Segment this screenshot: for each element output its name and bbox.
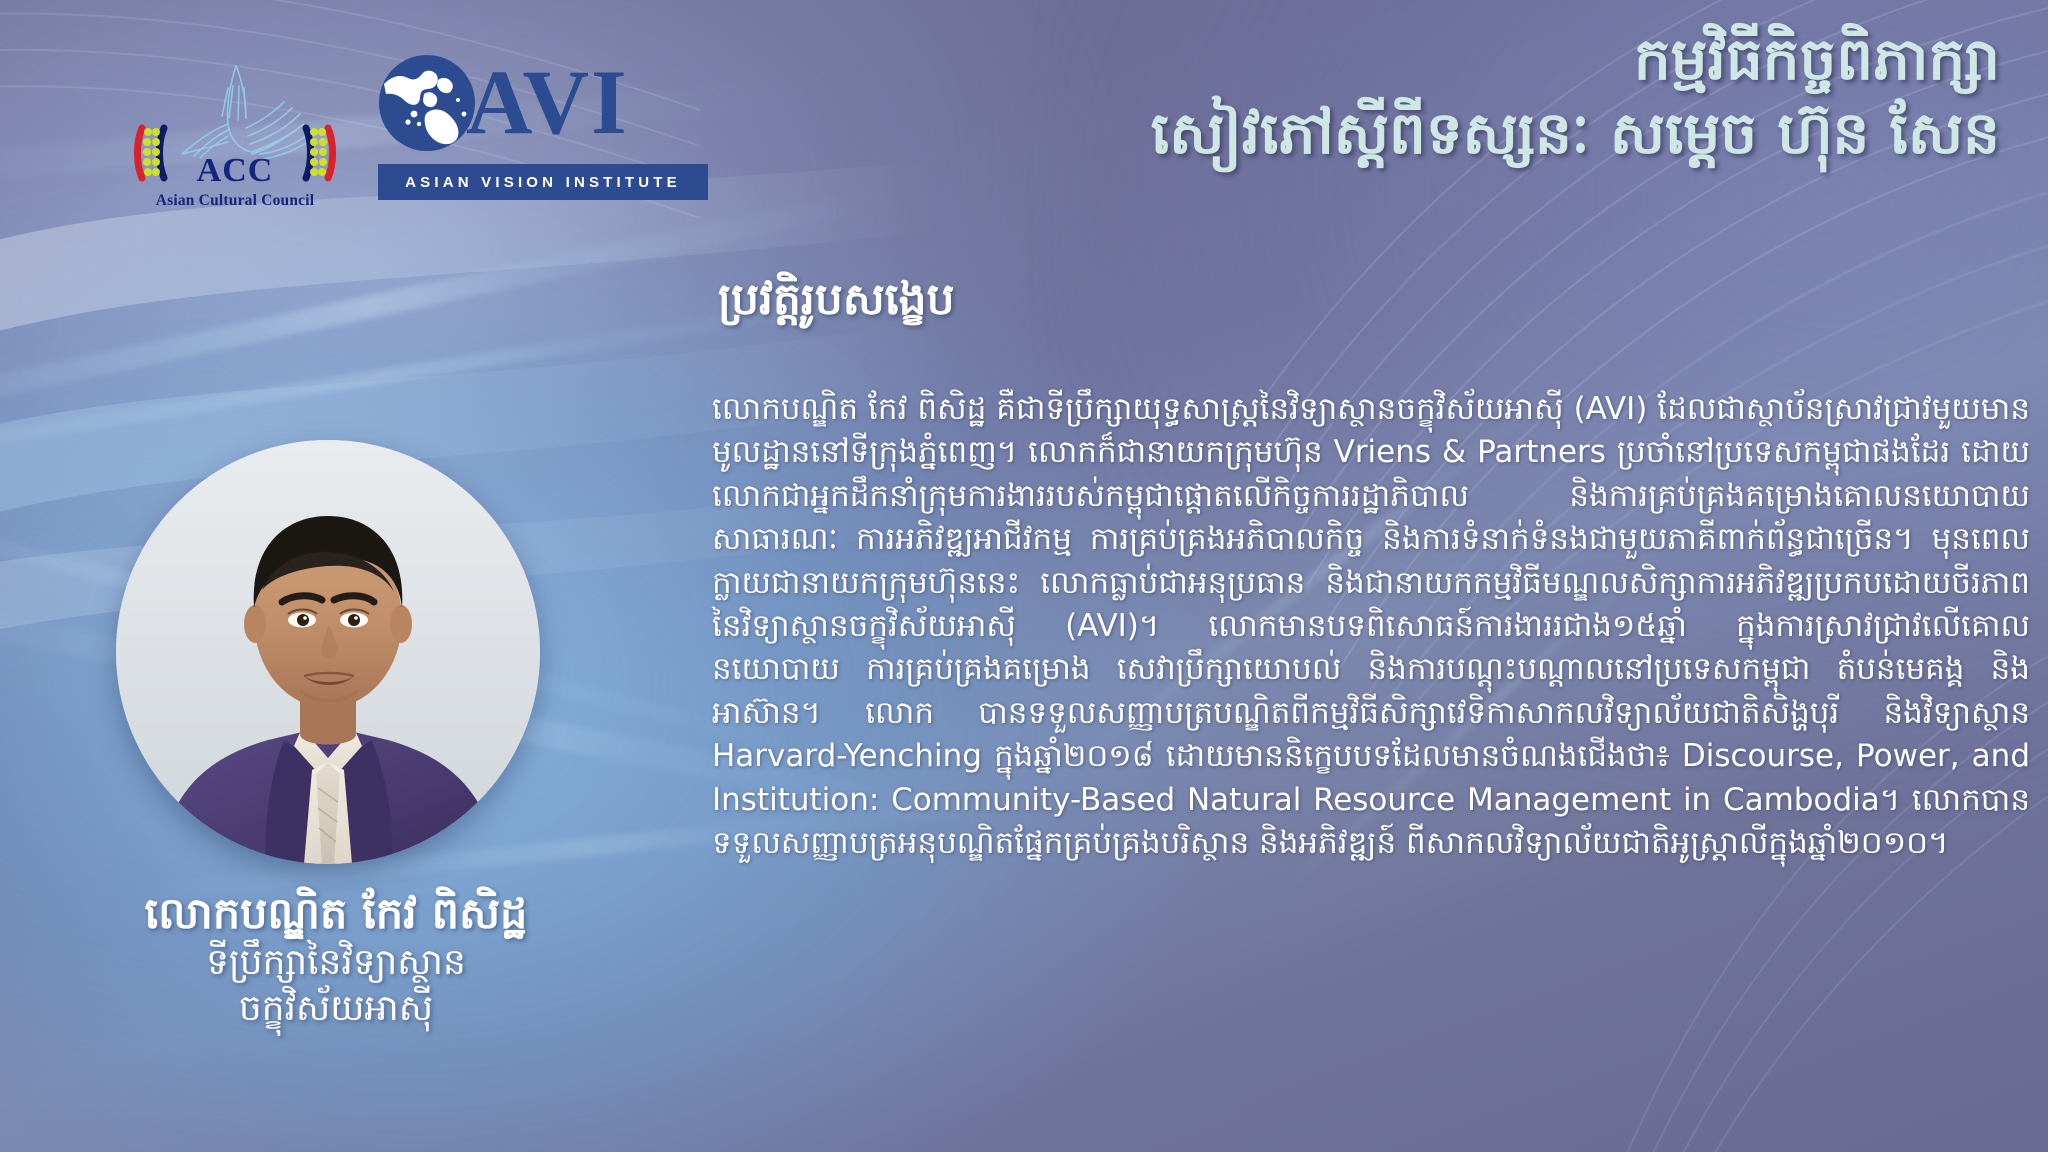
avi-subtitle: ASIAN VISION INSTITUTE <box>405 174 681 191</box>
acc-logo: ACC Asian Cultural Council <box>120 58 350 208</box>
section-heading: ប្រវត្តិរូបសង្ខេប <box>718 272 955 336</box>
speaker-name: លោកបណ្ឌិត កែវ ពិសិដ្ឋ <box>56 888 616 940</box>
biography-paragraph: លោកបណ្ឌិត កែវ ពិសិដ្ឋ គឺជាទីប្រឹក្សាយុទ្… <box>712 388 2030 865</box>
avi-wordmark: AVI <box>466 56 629 148</box>
speaker-role-line-1: ទីប្រឹក្សានៃវិទ្យាស្ថាន <box>56 940 616 985</box>
avi-subtitle-bar: ASIAN VISION INSTITUTE <box>378 164 708 200</box>
avi-logo: AVI ASIAN VISION INSTITUTE <box>378 54 708 202</box>
slide-title: កម្មវិធីកិច្ចពិភាក្សា សៀវភៅស្ដីពីទស្សនៈ … <box>720 22 2000 170</box>
speaker-photo <box>116 440 540 864</box>
slide-canvas: ACC Asian Cultural Council <box>0 0 2048 1152</box>
speaker-photo-frame <box>116 440 540 864</box>
speaker-caption: លោកបណ្ឌិត កែវ ពិសិដ្ឋ ទីប្រឹក្សានៃវិទ្យា… <box>56 888 616 1031</box>
title-line-1: កម្មវិធីកិច្ចពិភាក្សា <box>720 22 2000 96</box>
acc-subtitle: Asian Cultural Council <box>106 192 364 210</box>
logo-row: ACC Asian Cultural Council <box>0 0 760 240</box>
biography-text: លោកបណ្ឌិត កែវ ពិសិដ្ឋ គឺជាទីប្រឹក្សាយុទ្… <box>712 388 2030 865</box>
speaker-role-line-2: ចក្ខុវិស័យអាស៊ី <box>56 986 616 1031</box>
title-line-2: សៀវភៅស្ដីពីទស្សនៈ សម្តេច ហ៊ុន សែន <box>720 96 2000 170</box>
globe-icon <box>378 54 476 152</box>
acc-wordmark: ACC <box>120 154 350 188</box>
